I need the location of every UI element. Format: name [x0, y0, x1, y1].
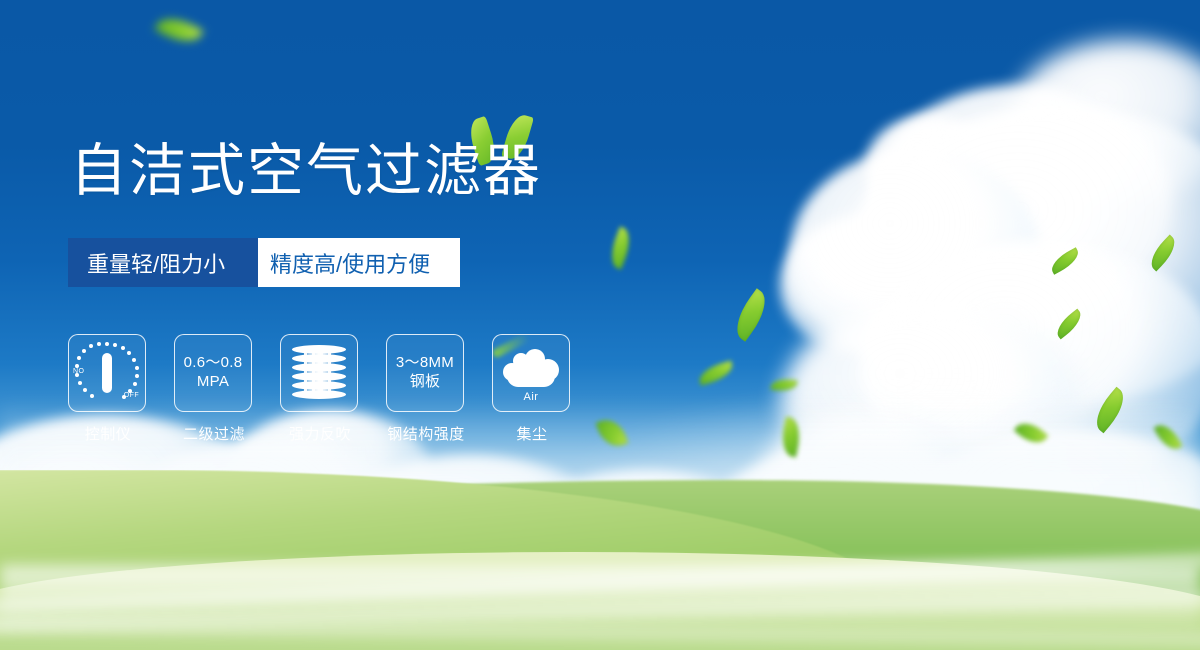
gauge-icon: NO OFF — [75, 341, 139, 405]
feature-label: 控制仪 — [68, 423, 148, 444]
pressure-text-icon: 0.6～0.8 MPA — [184, 354, 243, 392]
filter-cartridge-icon — [292, 345, 346, 401]
air-cloud-icon: Air — [501, 347, 561, 399]
steel-material: 钢板 — [396, 373, 454, 392]
feature-item-controller[interactable]: NO OFF — [68, 334, 148, 444]
air-label: Air — [501, 391, 561, 403]
subtitle-segment-right: 精度高/使用方便 — [242, 238, 460, 287]
feature-icon-box — [280, 334, 358, 412]
feature-icon-box: 0.6～0.8 MPA — [174, 334, 252, 412]
feature-item-blowback[interactable]: 强力反吹 — [280, 334, 360, 444]
feature-label: 钢结构强度 — [386, 423, 466, 444]
feature-item-dust[interactable]: Air 集尘 — [492, 334, 572, 444]
feature-icon-box: NO OFF — [68, 334, 146, 412]
feature-label: 二级过滤 — [174, 423, 254, 444]
subtitle-segment-left: 重量轻/阻力小 — [68, 238, 258, 287]
feature-label: 强力反吹 — [280, 423, 360, 444]
product-banner: 自洁式空气过滤器 重量轻/阻力小 精度高/使用方便 NO OFF — [0, 0, 1200, 650]
grass-field — [0, 470, 1200, 650]
page-title: 自洁式空气过滤器 — [70, 143, 542, 200]
steel-plate-text-icon: 3～8MM 钢板 — [396, 354, 454, 392]
feature-icon-box: Air — [492, 334, 570, 412]
feature-list: NO OFF — [68, 334, 572, 444]
gauge-needle — [102, 353, 112, 393]
subtitle-bar: 重量轻/阻力小 精度高/使用方便 — [68, 238, 460, 287]
steel-thickness: 3～8MM — [396, 354, 454, 373]
feature-item-steel[interactable]: 3～8MM 钢板 钢结构强度 — [386, 334, 466, 444]
feature-icon-box: 3～8MM 钢板 — [386, 334, 464, 412]
feature-item-pressure[interactable]: 0.6～0.8 MPA 二级过滤 — [174, 334, 254, 444]
gauge-label-off: OFF — [124, 392, 139, 399]
feature-label: 集尘 — [492, 423, 572, 444]
pressure-unit: MPA — [184, 373, 243, 392]
pressure-value: 0.6～0.8 — [184, 354, 243, 373]
